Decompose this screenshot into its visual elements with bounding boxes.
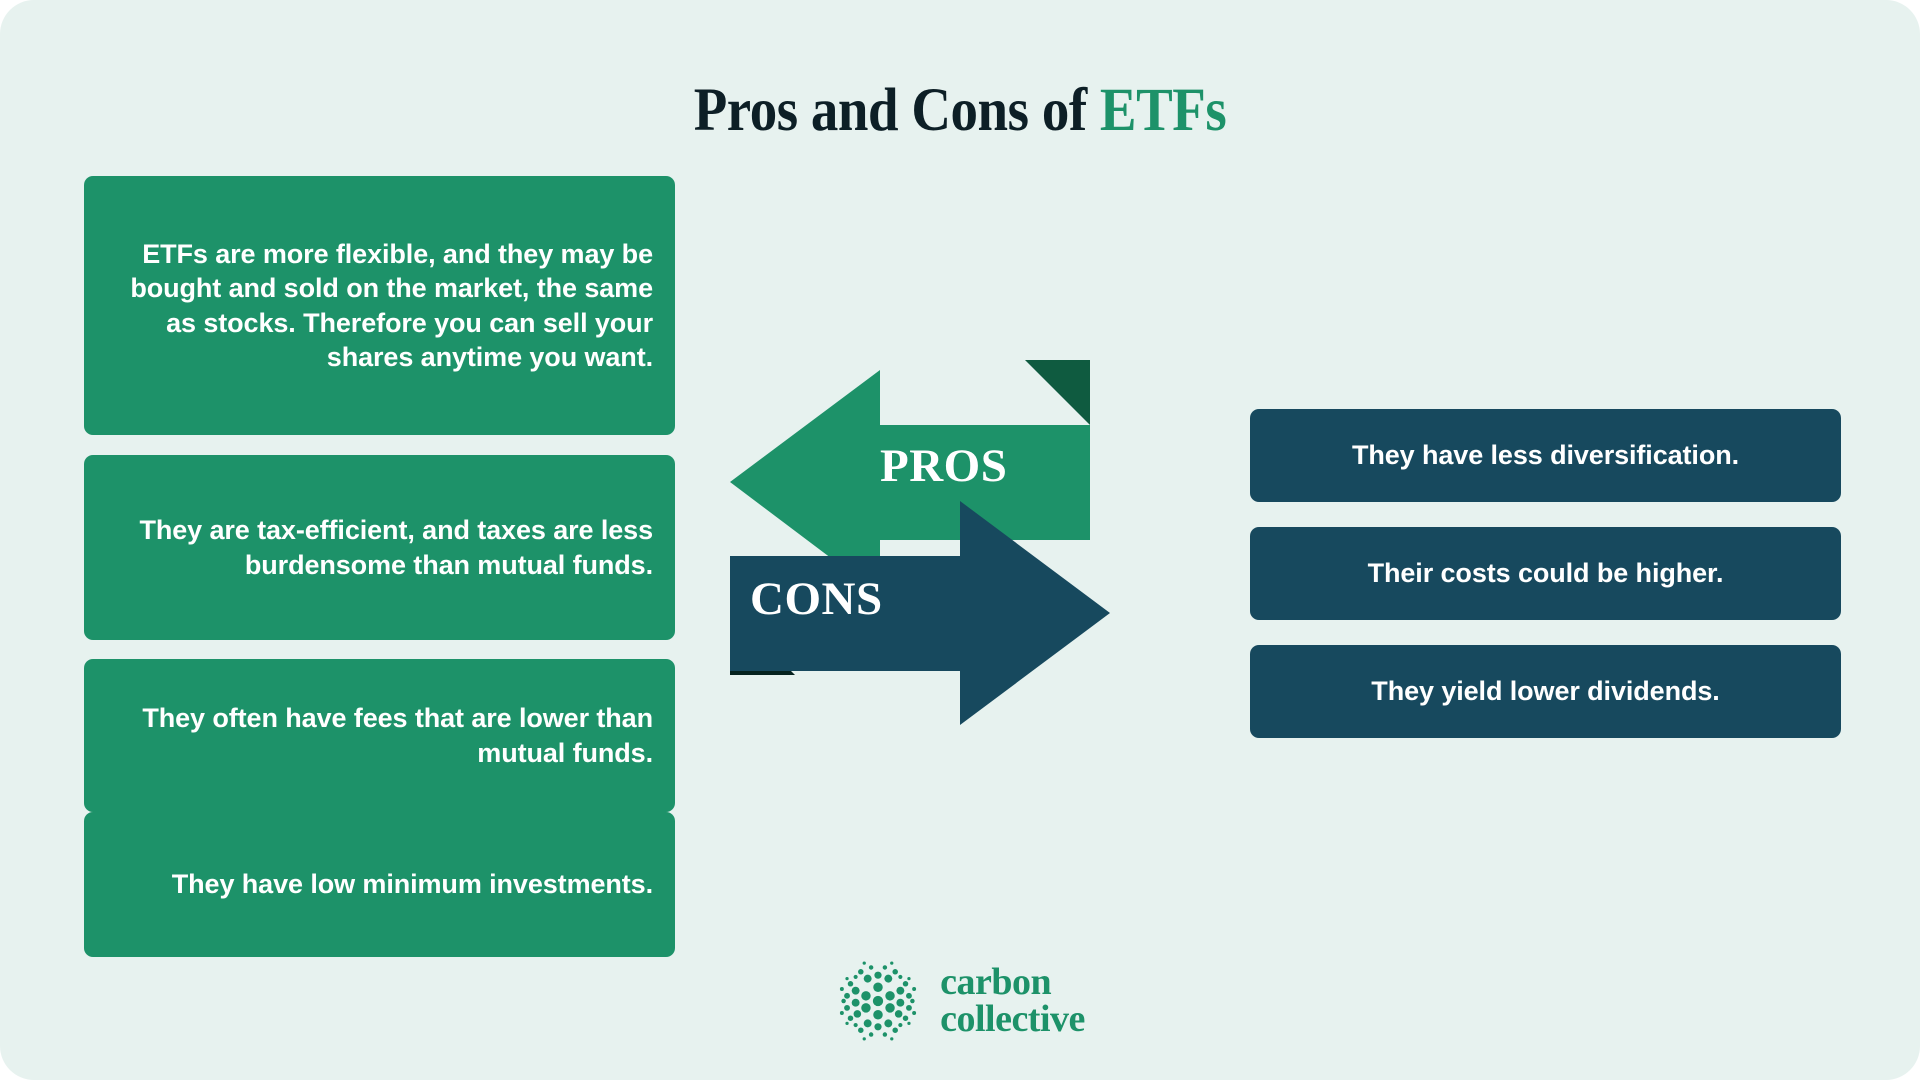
pro-card-text: They often have fees that are lower than… bbox=[106, 701, 653, 769]
page-title-main: Pros and Cons of bbox=[694, 77, 1100, 144]
pro-card-text: ETFs are more flexible, and they may be … bbox=[106, 237, 653, 373]
brand-logo-wordmark: carbon collective bbox=[940, 964, 1085, 1038]
con-card-text: Their costs could be higher. bbox=[1368, 556, 1724, 590]
brand-logo-line2: collective bbox=[940, 1001, 1085, 1038]
infographic-canvas: Pros and Cons of ETFs ETFs are more flex… bbox=[0, 0, 1920, 1080]
con-card: They yield lower dividends. bbox=[1250, 645, 1841, 738]
con-card-text: They have less diversification. bbox=[1352, 438, 1739, 472]
con-card-text: They yield lower dividends. bbox=[1371, 674, 1719, 708]
pro-card: They have low minimum investments. bbox=[84, 812, 675, 957]
pros-arrow-label: PROS bbox=[880, 439, 1007, 493]
page-title: Pros and Cons of ETFs bbox=[96, 76, 1824, 146]
page-title-accent: ETFs bbox=[1100, 77, 1226, 144]
pro-card: They often have fees that are lower than… bbox=[84, 659, 675, 812]
con-card: They have less diversification. bbox=[1250, 409, 1841, 502]
pro-card-text: They have low minimum investments. bbox=[172, 867, 653, 901]
pros-fold-triangle bbox=[1025, 360, 1090, 425]
brand-logo: carbon collective bbox=[0, 958, 1920, 1044]
con-card: Their costs could be higher. bbox=[1250, 527, 1841, 620]
pro-card: They are tax-efficient, and taxes are le… bbox=[84, 455, 675, 640]
brand-logo-line1: carbon bbox=[940, 964, 1085, 1001]
pros-cons-arrow-group: PROS CONS bbox=[730, 360, 1200, 780]
carbon-collective-dots-icon bbox=[835, 958, 921, 1044]
pro-card: ETFs are more flexible, and they may be … bbox=[84, 176, 675, 435]
pro-card-text: They are tax-efficient, and taxes are le… bbox=[106, 513, 653, 581]
cons-arrow-label: CONS bbox=[750, 572, 883, 626]
